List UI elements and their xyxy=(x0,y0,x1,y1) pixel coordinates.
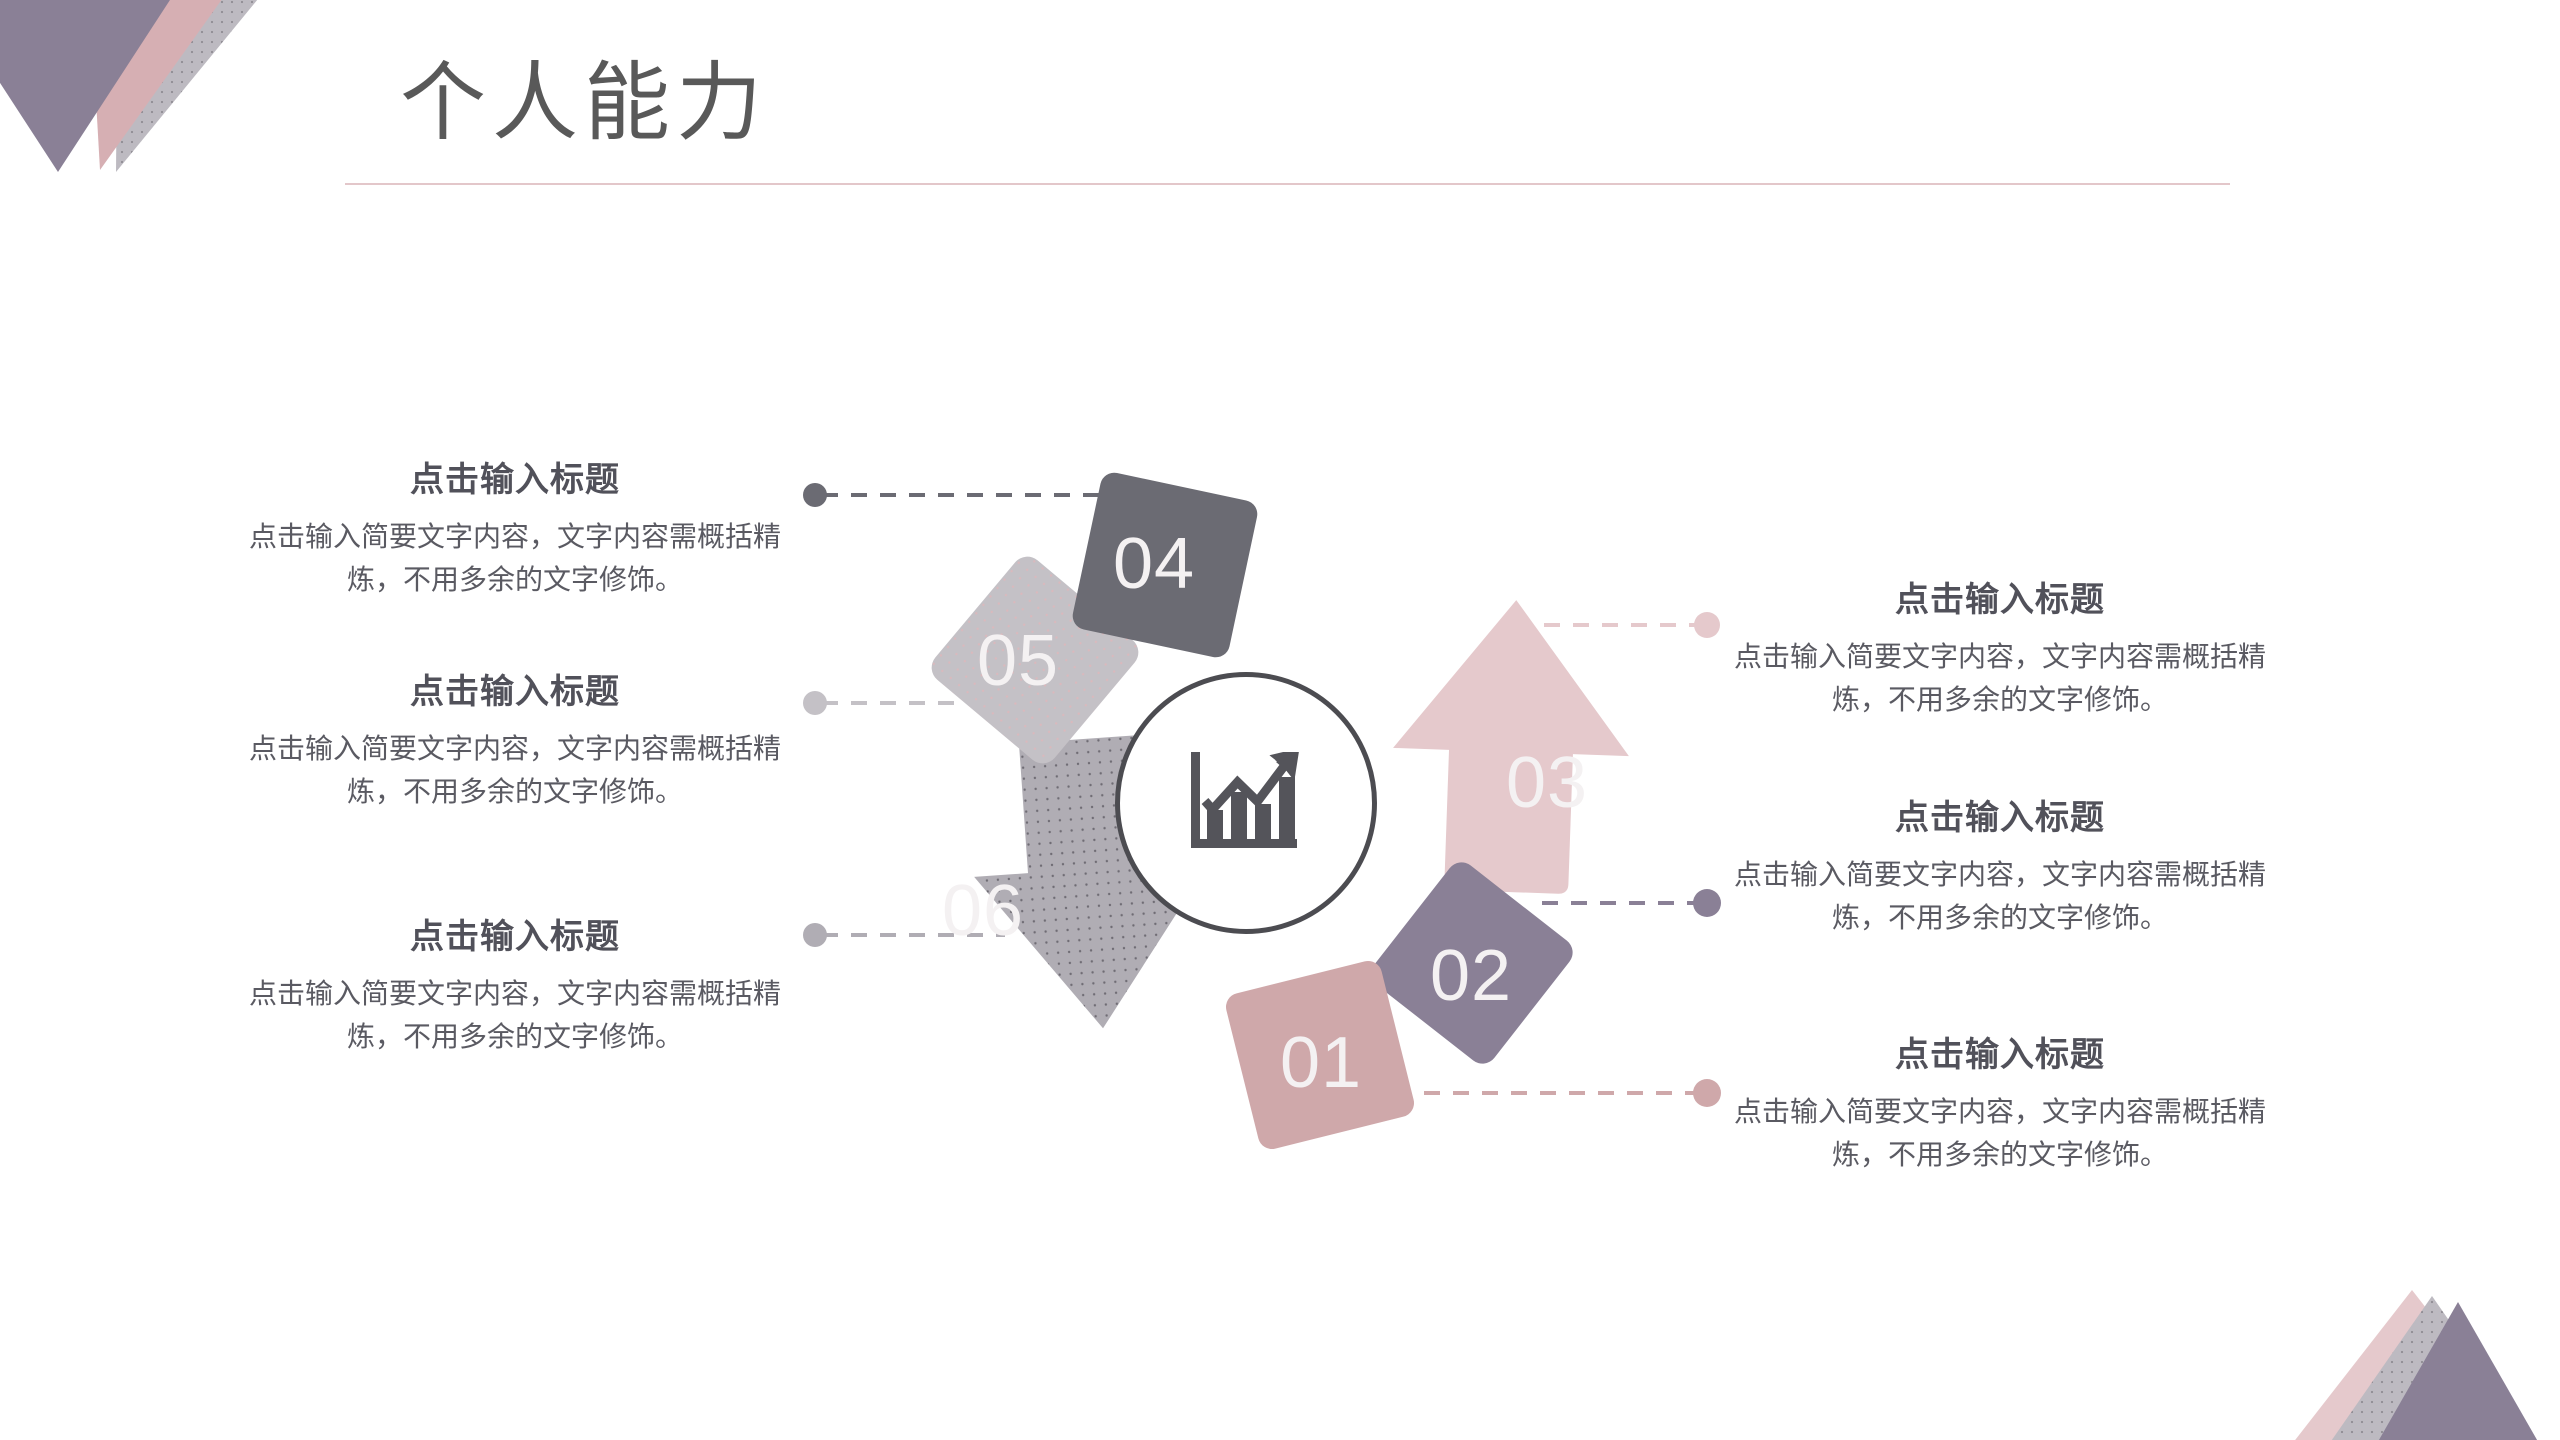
block-body: 点击输入简要文字内容，文字内容需概括精炼，不用多余的文字修饰。 xyxy=(1730,1090,2270,1177)
connector-dot-05 xyxy=(803,691,827,715)
block-body: 点击输入简要文字内容，文字内容需概括精炼，不用多余的文字修饰。 xyxy=(1730,635,2270,722)
slide-canvas: 个人能力 xyxy=(0,0,2560,1440)
text-block-right-2: 点击输入标题 点击输入简要文字内容，文字内容需概括精炼，不用多余的文字修饰。 xyxy=(1730,798,2270,940)
connector-dot-03 xyxy=(1694,612,1720,638)
block-title: 点击输入标题 xyxy=(245,460,785,501)
block-title: 点击输入标题 xyxy=(245,672,785,713)
text-block-left-2: 点击输入标题 点击输入简要文字内容，文字内容需概括精炼，不用多余的文字修饰。 xyxy=(245,672,785,814)
center-hub xyxy=(1115,672,1377,934)
block-title: 点击输入标题 xyxy=(1730,1035,2270,1076)
connector-line-02 xyxy=(1544,903,1700,905)
connector-line-05 xyxy=(822,690,955,703)
block-title: 点击输入标题 xyxy=(1730,798,2270,839)
connector-dot-01 xyxy=(1693,1079,1721,1107)
connector-dot-04 xyxy=(803,483,827,507)
connector-dot-06 xyxy=(803,923,827,947)
text-block-left-1: 点击输入标题 点击输入简要文字内容，文字内容需概括精炼，不用多余的文字修饰。 xyxy=(245,460,785,602)
text-block-right-1: 点击输入标题 点击输入简要文字内容，文字内容需概括精炼，不用多余的文字修饰。 xyxy=(1730,580,2270,722)
connector-dot-02 xyxy=(1693,889,1721,917)
block-title: 点击输入标题 xyxy=(1730,580,2270,621)
block-body: 点击输入简要文字内容，文字内容需概括精炼，不用多余的文字修饰。 xyxy=(245,727,785,814)
step-shape-04 xyxy=(1070,470,1260,660)
growth-bar-chart-icon xyxy=(1191,752,1301,854)
block-body: 点击输入简要文字内容，文字内容需概括精炼，不用多余的文字修饰。 xyxy=(245,972,785,1059)
block-title: 点击输入标题 xyxy=(245,917,785,958)
text-block-right-3: 点击输入标题 点击输入简要文字内容，文字内容需概括精炼，不用多余的文字修饰。 xyxy=(1730,1035,2270,1177)
process-diagram: 04 05 06 03 02 01 xyxy=(0,0,2560,1440)
block-body: 点击输入简要文字内容，文字内容需概括精炼，不用多余的文字修饰。 xyxy=(1730,853,2270,940)
step-shape-03 xyxy=(1388,596,1634,896)
block-body: 点击输入简要文字内容，文字内容需概括精炼，不用多余的文字修饰。 xyxy=(245,515,785,602)
text-block-left-3: 点击输入标题 点击输入简要文字内容，文字内容需概括精炼，不用多余的文字修饰。 xyxy=(245,917,785,1059)
